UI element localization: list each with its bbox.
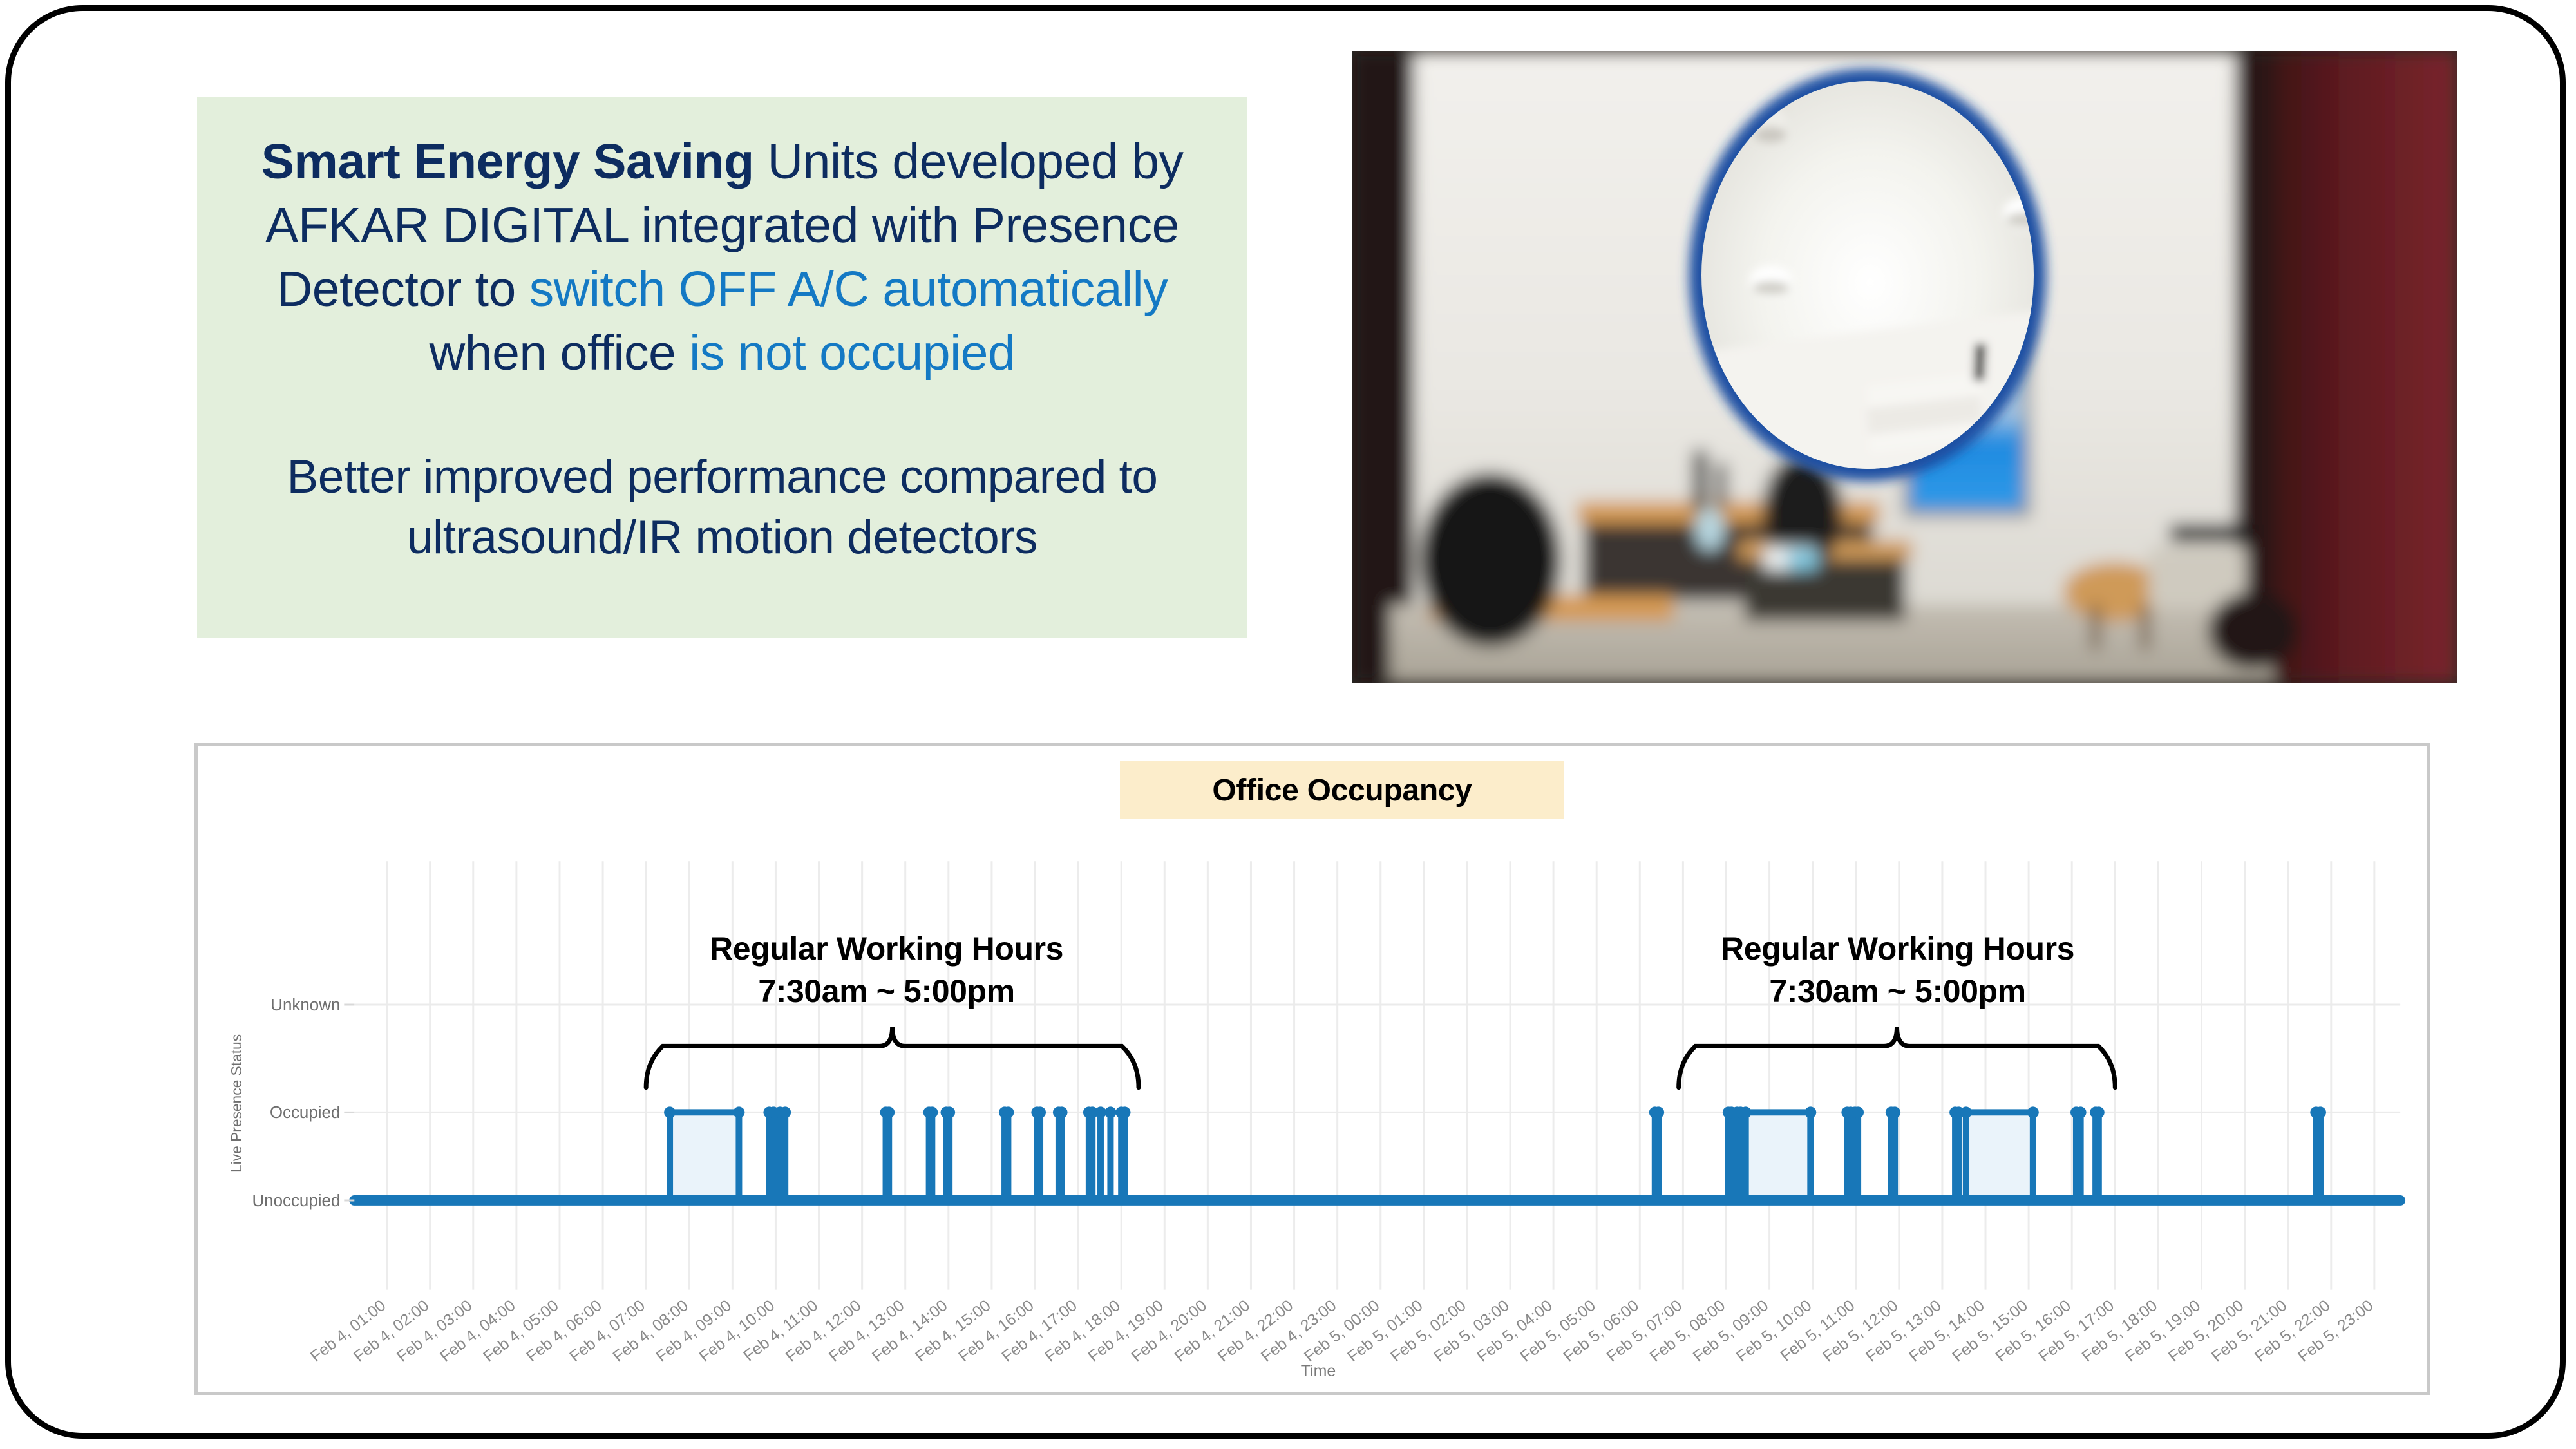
chart-x-axis-title: Time <box>1301 1363 1336 1380</box>
callout-text-navy-2: when office <box>430 325 690 381</box>
chart-x-tick-labels: Feb 4, 01:00Feb 4, 02:00Feb 4, 03:00Feb … <box>307 1297 2376 1366</box>
slide-frame: Smart Energy Saving Units developed by A… <box>5 5 2566 1439</box>
annotation-2-line2: 7:30am ~ 5:00pm <box>1721 970 2074 1012</box>
svg-text:Occupied: Occupied <box>270 1104 341 1122</box>
callout-paragraph-2: Better improved performance compared to … <box>220 447 1224 568</box>
chart-title-badge: Office Occupancy <box>1120 761 1564 819</box>
chart-y-axis-title: Live Presence Status <box>228 1034 245 1173</box>
svg-text:Feb 5, 23:00: Feb 5, 23:00 <box>2295 1297 2377 1366</box>
occupancy-chart: UnknownOccupiedUnoccupied Feb 4, 01:00Fe… <box>194 743 2430 1395</box>
annotation-1-line1: Regular Working Hours <box>710 927 1063 970</box>
chart-y-tick-labels: UnknownOccupiedUnoccupied <box>252 996 354 1210</box>
occupancy-chart-canvas: UnknownOccupiedUnoccupied Feb 4, 01:00Fe… <box>198 746 2427 1392</box>
annotation-2-line1: Regular Working Hours <box>1721 927 2074 970</box>
office-photo <box>1352 51 2457 683</box>
annotation-1-line2: 7:30am ~ 5:00pm <box>710 970 1063 1012</box>
callout-text-accent-2: is not occupied <box>689 325 1015 381</box>
chart-title-text: Office Occupancy <box>1212 773 1472 808</box>
annotation-working-hours-day2: Regular Working Hours 7:30am ~ 5:00pm <box>1721 927 2074 1012</box>
svg-text:Unknown: Unknown <box>270 996 340 1014</box>
office-photo-canvas <box>1352 51 2457 683</box>
callout-text-accent-1: switch OFF A/C automatically <box>529 261 1168 317</box>
chart-data-line <box>354 1112 2400 1200</box>
svg-text:Unoccupied: Unoccupied <box>252 1192 340 1210</box>
chart-area-fill <box>670 1112 2033 1200</box>
callout-bold-lead: Smart Energy Saving <box>261 134 754 189</box>
annotation-working-hours-day1: Regular Working Hours 7:30am ~ 5:00pm <box>710 927 1063 1012</box>
callout-textbox: Smart Energy Saving Units developed by A… <box>197 97 1247 638</box>
callout-paragraph-1: Smart Energy Saving Units developed by A… <box>220 130 1224 385</box>
chart-gridlines <box>387 861 2374 1289</box>
